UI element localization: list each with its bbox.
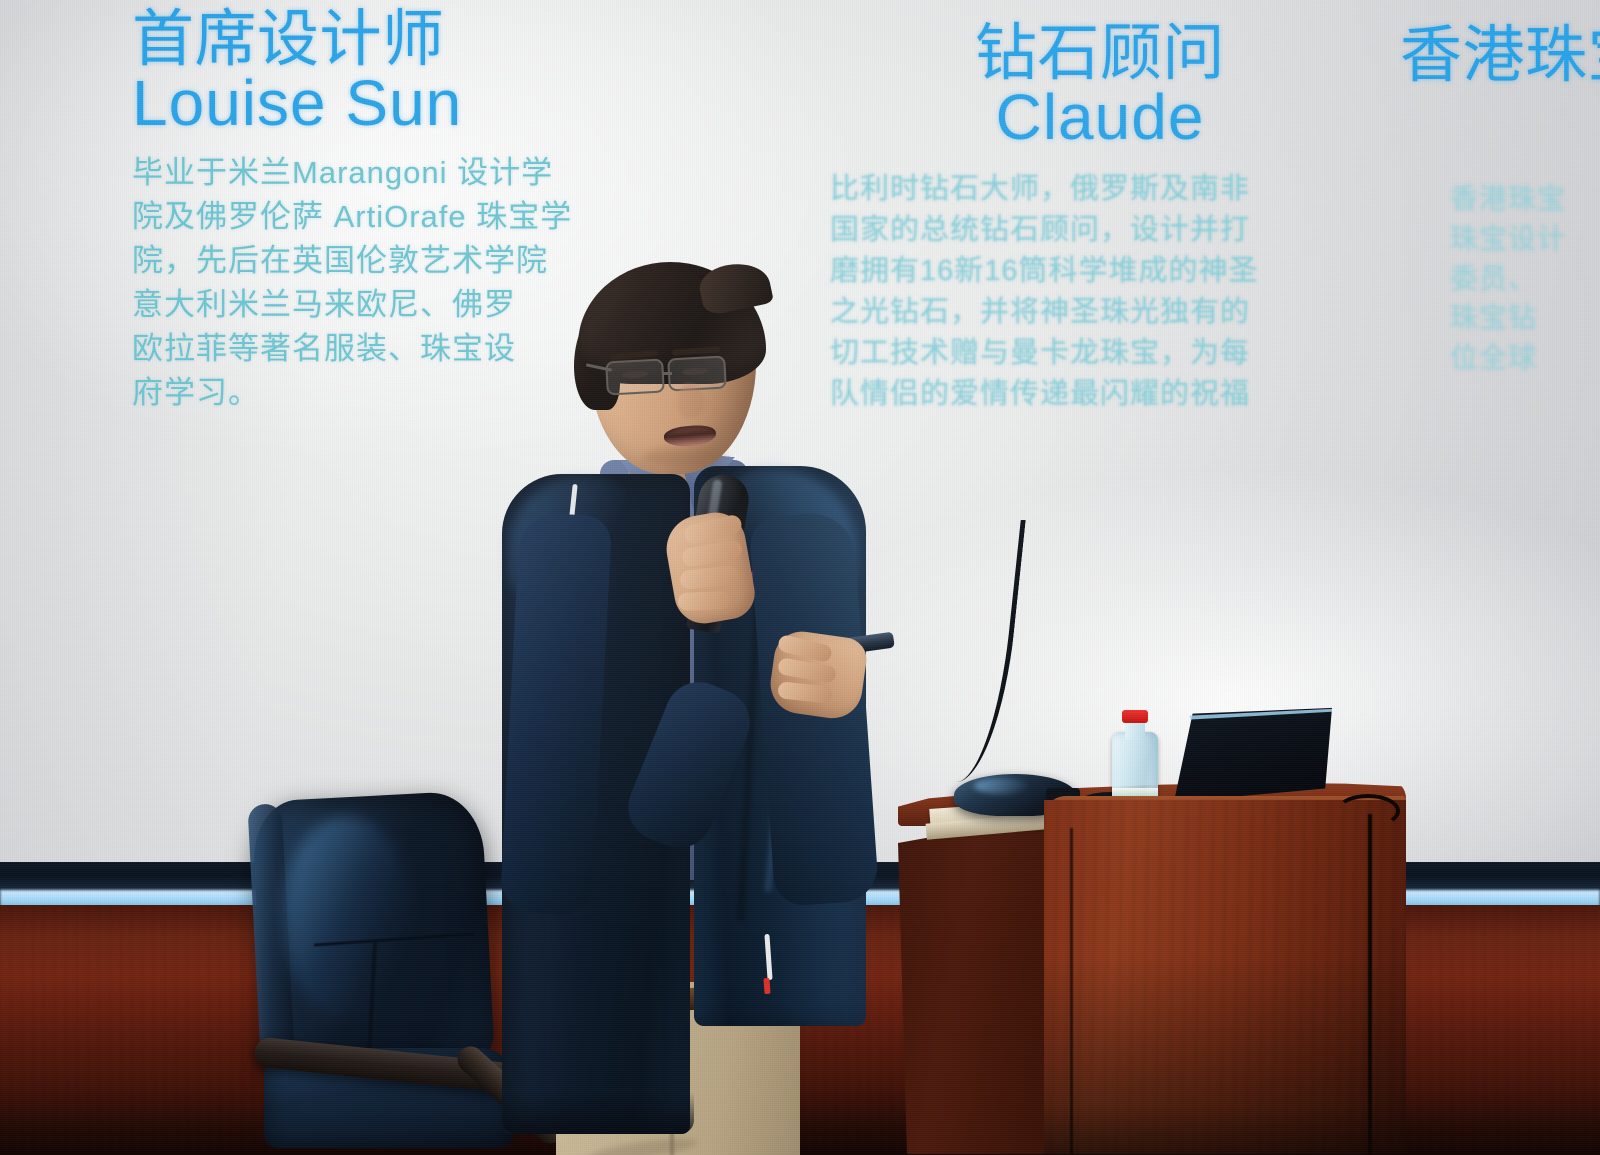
podium-cable bbox=[1368, 814, 1372, 1154]
jacket-hem bbox=[502, 1092, 694, 1134]
slide-column-3-title: 香港珠宝 bbox=[1400, 24, 1600, 87]
nose bbox=[678, 384, 704, 418]
slide-column-1-body-line: 院及佛罗伦萨 ArtiOrafe 珠宝学 bbox=[132, 195, 732, 239]
slide-column-2-body-line: 国家的总统钻石顾问，设计并打 bbox=[830, 210, 1370, 251]
slide-column-2-title: 钻石顾问 Claude bbox=[830, 22, 1370, 151]
slide-column-3-body-line: 珠宝设计 bbox=[1450, 219, 1600, 259]
jacket-drawstring-tip-right bbox=[763, 978, 770, 994]
slide-column-2-body-line: 队情侣的爱情传递最闪耀的祝福 bbox=[830, 374, 1370, 415]
slide-column-2-body-line: 之光钻石，并将神圣珠光独有的 bbox=[830, 292, 1370, 333]
laptop bbox=[1162, 706, 1332, 802]
hair-tuft bbox=[696, 257, 774, 317]
slide-column-2-title-cn: 钻石顾问 bbox=[830, 22, 1370, 85]
chin-shadow bbox=[644, 448, 726, 466]
slide-column-3-title-cn: 香港珠宝 bbox=[1400, 24, 1600, 87]
eyeglasses-bridge bbox=[662, 372, 672, 375]
eyeglasses-lens-left bbox=[605, 359, 665, 396]
slide-column-1-title-en: Louise Sun bbox=[132, 71, 732, 136]
slide-column-2: 钻石顾问 Claude 比利时钻石大师，俄罗斯及南非 国家的总统钻石顾问，设计并… bbox=[830, 22, 1370, 416]
photo-scene: 首席设计师 Louise Sun 毕业于米兰Marangoni 设计学 院及佛罗… bbox=[0, 0, 1600, 1155]
laptop-screen bbox=[1162, 706, 1332, 802]
slide-column-2-body-line: 比利时钻石大师，俄罗斯及南非 bbox=[830, 169, 1370, 210]
slide-column-2-body-line: 切工技术赠与曼卡龙珠宝，为每 bbox=[830, 333, 1370, 374]
slide-column-3-body-line: 珠宝钻 bbox=[1450, 298, 1600, 338]
podium-left-wing bbox=[898, 816, 1048, 1154]
slide-column-3-body-line: 位全球 bbox=[1450, 338, 1600, 378]
slide-column-2-title-en: Claude bbox=[830, 85, 1370, 150]
slide-column-3-body-line: 香港珠宝 bbox=[1450, 179, 1600, 219]
gooseneck-mic-highlight bbox=[974, 778, 1028, 794]
slide-column-1-title-cn: 首席设计师 bbox=[132, 8, 732, 71]
finger bbox=[678, 591, 731, 611]
slide-column-1-title: 首席设计师 Louise Sun bbox=[132, 8, 732, 137]
slide-column-3-body: 香港珠宝 珠宝设计 委员、 珠宝钻 位全球 bbox=[1450, 179, 1600, 378]
slide-column-2-body: 比利时钻石大师，俄罗斯及南非 国家的总统钻石顾问，设计并打 磨拥有16新16筒科… bbox=[830, 169, 1370, 416]
slide-column-1-body-line: 毕业于米兰Marangoni 设计学 bbox=[132, 151, 732, 195]
speaker-person bbox=[478, 262, 898, 1155]
slide-column-3: 香港珠宝 香港珠宝 珠宝设计 委员、 珠宝钻 位全球 bbox=[1400, 24, 1600, 378]
podium bbox=[898, 752, 1406, 1155]
bottle-cap bbox=[1122, 710, 1148, 723]
slide-column-3-body-line: 委员、 bbox=[1450, 259, 1600, 299]
podium-shading bbox=[1044, 800, 1406, 1154]
slide-column-2-body-line: 磨拥有16新16筒科学堆成的神圣 bbox=[830, 251, 1370, 292]
